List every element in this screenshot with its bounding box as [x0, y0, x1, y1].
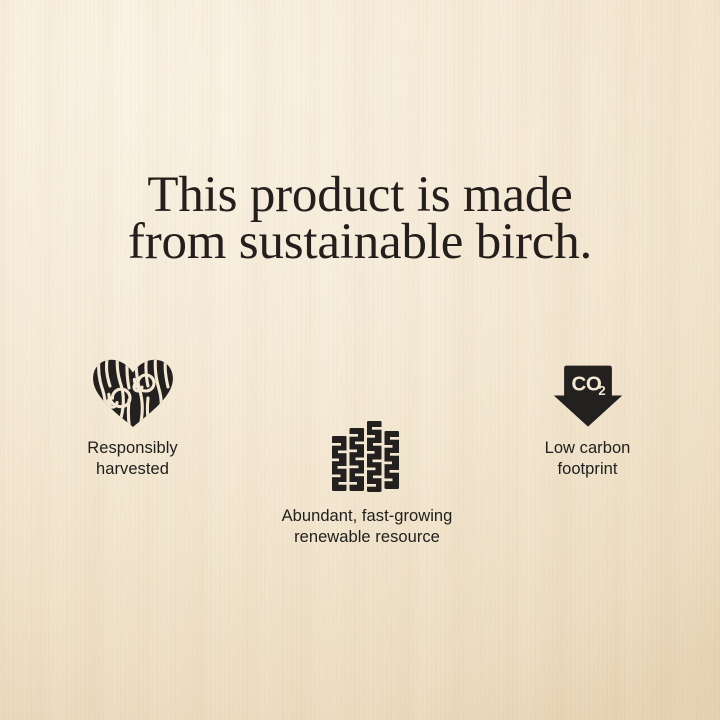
feature-icon-slot: CO 2	[481, 358, 694, 428]
feature-caption: Responsibly harvested	[26, 438, 239, 480]
woodgrain-heart-icon	[90, 358, 176, 428]
birch-panel: This product is made from sustainable bi…	[0, 0, 720, 720]
panel-content: This product is made from sustainable bi…	[0, 0, 720, 720]
co2-down-arrow-icon: CO 2	[552, 364, 624, 428]
feature-responsibly-harvested: Responsibly harvested	[26, 358, 239, 480]
headline: This product is made from sustainable bi…	[0, 172, 720, 266]
feature-icon-slot	[252, 414, 482, 494]
feature-caption: Abundant, fast-growing renewable resourc…	[252, 506, 482, 548]
feature-caption: Low carbon footprint	[481, 438, 694, 480]
birch-trunks-icon	[330, 420, 404, 494]
feature-renewable-resource: Abundant, fast-growing renewable resourc…	[252, 414, 482, 548]
co2-icon-label: CO	[571, 373, 601, 396]
co2-icon-subscript: 2	[598, 383, 605, 398]
feature-icon-slot	[26, 358, 239, 428]
feature-low-carbon-footprint: CO 2 Low carbon footprint	[481, 358, 694, 480]
